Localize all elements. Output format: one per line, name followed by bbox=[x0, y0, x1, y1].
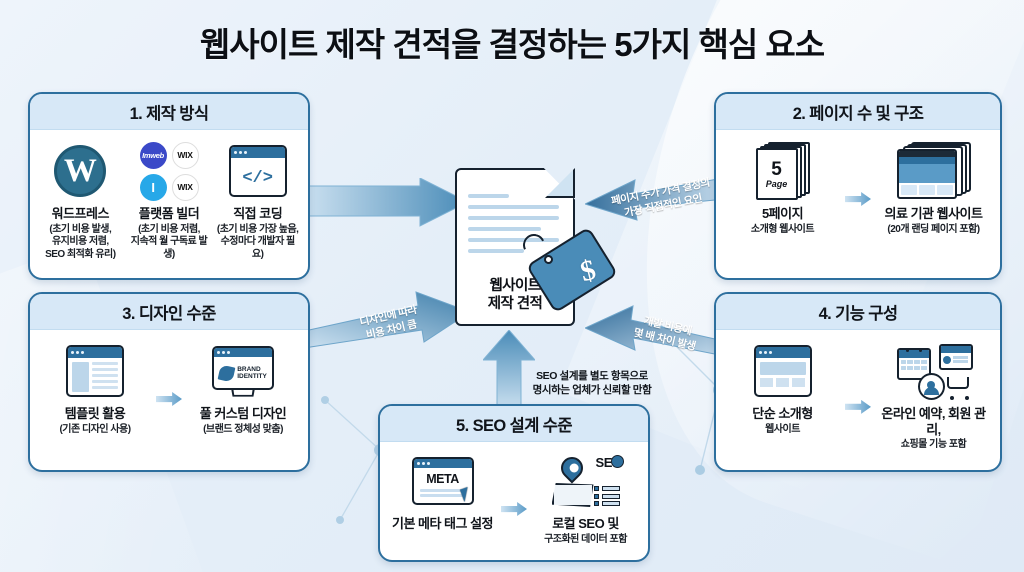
item-simple-site-title: 단순 소개형 bbox=[724, 406, 841, 422]
card-page-count-structure[interactable]: 2. 페이지 수 및 구조 5 Page 5페이지 소개형 웹사이트 bbox=[714, 92, 1002, 280]
right-arrow-icon bbox=[845, 400, 871, 414]
template-browser-icon bbox=[38, 340, 152, 402]
card-feature-set[interactable]: 4. 기능 구성 bbox=[714, 292, 1002, 472]
map-icon bbox=[552, 483, 594, 507]
item-medical-title: 의료 기관 웹사이트 bbox=[875, 206, 992, 222]
item-features-sub: 쇼핑몰 기능 포함 bbox=[875, 439, 992, 452]
item-medical-sub: (20개 랜딩 페이지 포함) bbox=[875, 224, 992, 237]
builder-logo-icon: I bbox=[140, 174, 167, 201]
right-arrow-icon bbox=[501, 502, 527, 516]
item-simple-site[interactable]: 단순 소개형 웹사이트 bbox=[724, 340, 841, 436]
card-design-level[interactable]: 3. 디자인 수준 템플릿 활용 (기존 디자인 사용) bbox=[28, 292, 310, 472]
item-features-title: 온라인 예약, 회원 관리, bbox=[875, 406, 992, 437]
item-5page-title: 5페이지 bbox=[724, 206, 841, 222]
item-template-sub: (기존 디자인 사용) bbox=[38, 424, 152, 437]
item-template-title: 템플릿 활용 bbox=[38, 406, 152, 422]
item-custom-coding[interactable]: </> 직접 코딩 (초기 비용 가장 높음, 수정마다 개발자 필요) bbox=[215, 140, 300, 261]
item-platform-sub: (초기 비용 저렴, 지속적 월 구독료 발생) bbox=[127, 224, 212, 262]
price-tag-icon: $ bbox=[535, 242, 609, 298]
item-meta-title: 기본 메타 태그 설정 bbox=[388, 516, 497, 532]
meta-label: META bbox=[414, 472, 472, 486]
item-local-seo-sub: 구조화된 데이터 포함 bbox=[531, 534, 640, 547]
item-advanced-features[interactable]: 온라인 예약, 회원 관리, 쇼핑몰 기능 포함 bbox=[875, 340, 992, 452]
card3-heading: 3. 디자인 수준 bbox=[30, 294, 308, 330]
item-local-seo[interactable]: SEO 로컬 SEO 및 구조화된 데이터 포함 bbox=[531, 450, 640, 546]
brand-identity-monitor-icon: BRAND IDENTITY bbox=[186, 340, 300, 402]
card1-heading: 1. 제작 방식 bbox=[30, 94, 308, 130]
simple-website-browser-icon bbox=[724, 340, 841, 402]
page-unit: Page bbox=[766, 179, 788, 189]
card-seo-level[interactable]: 5. SEO 설계 수준 META 기본 메타 태그 설정 SEO bbox=[378, 404, 650, 562]
item-coding-title: 직접 코딩 bbox=[215, 206, 300, 222]
member-card-icon bbox=[939, 344, 973, 370]
code-glyph: </> bbox=[231, 158, 285, 197]
item-custom-design-sub: (브랜드 정체성 맞춤) bbox=[186, 424, 300, 437]
code-browser-icon: </> bbox=[215, 140, 300, 202]
brand-line-2: IDENTITY bbox=[237, 373, 267, 380]
item-wordpress-title: 워드프레스 bbox=[38, 206, 123, 222]
item-simple-site-sub: 웹사이트 bbox=[724, 424, 841, 437]
item-coding-sub: (초기 비용 가장 높음, 수정마다 개발자 필요) bbox=[215, 224, 300, 262]
card4-heading: 4. 기능 구성 bbox=[716, 294, 1000, 330]
structured-data-list-icon bbox=[594, 486, 620, 506]
item-wordpress-sub: (초기 비용 발생, 유지비용 저렴, SEO 최적화 유리) bbox=[38, 224, 123, 262]
card2-heading: 2. 페이지 수 및 구조 bbox=[716, 94, 1000, 130]
page-number: 5 bbox=[771, 160, 782, 179]
item-wordpress[interactable]: W 워드프레스 (초기 비용 발생, 유지비용 저렴, SEO 최적화 유리) bbox=[38, 140, 123, 261]
monitor-stand bbox=[231, 389, 254, 396]
item-medical-site[interactable]: 의료 기관 웹사이트 (20개 랜딩 페이지 포함) bbox=[875, 140, 992, 236]
card-production-method[interactable]: 1. 제작 방식 W 워드프레스 (초기 비용 발생, 유지비용 저렴, SEO… bbox=[28, 92, 310, 280]
item-template-design[interactable]: 템플릿 활용 (기존 디자인 사용) bbox=[38, 340, 152, 436]
platform-builder-logos-icon: Imweb WIX I WIX bbox=[127, 140, 212, 202]
item-five-page-site[interactable]: 5 Page 5페이지 소개형 웹사이트 bbox=[724, 140, 841, 236]
connector-label-card5: SEO 설계를 별도 항목으로 명시하는 업체가 신뢰할 만함 bbox=[492, 370, 692, 397]
local-seo-map-icon: SEO bbox=[531, 450, 640, 512]
center-quote-document: 웹사이트 제작 견적 $ bbox=[455, 168, 575, 326]
stacked-pages-icon: 5 Page bbox=[724, 140, 841, 202]
wix-logo-icon-2: WIX bbox=[172, 174, 199, 201]
item-platform-builder[interactable]: Imweb WIX I WIX 플랫폼 빌더 (초기 비용 저렴, 지속적 월 … bbox=[127, 140, 212, 261]
item-custom-design[interactable]: BRAND IDENTITY 풀 커스텀 디자인 (브랜드 정체성 맞춤) bbox=[186, 340, 300, 436]
brand-leaf-icon bbox=[218, 364, 236, 382]
card5-heading: 5. SEO 설계 수준 bbox=[380, 406, 648, 442]
user-avatar-icon bbox=[918, 373, 945, 400]
connector-arrow-card1 bbox=[300, 178, 468, 230]
item-custom-design-title: 풀 커스텀 디자인 bbox=[186, 406, 300, 422]
item-5page-sub: 소개형 웹사이트 bbox=[724, 224, 841, 237]
meta-tag-window-icon: META bbox=[388, 450, 497, 512]
wix-logo-icon: WIX bbox=[172, 142, 199, 169]
item-basic-meta[interactable]: META 기본 메타 태그 설정 bbox=[388, 450, 497, 532]
brand-line-1: BRAND bbox=[237, 366, 260, 373]
right-arrow-icon bbox=[156, 392, 182, 406]
item-local-seo-title: 로컬 SEO 및 bbox=[531, 516, 640, 532]
item-platform-title: 플랫폼 빌더 bbox=[127, 206, 212, 222]
imweb-logo-icon: Imweb bbox=[140, 142, 167, 169]
infographic-canvas: 웹사이트 제작 견적을 결정하는 5가지 핵심 요소 페이지 수가 가격 결정의… bbox=[0, 0, 1024, 572]
gear-icon bbox=[611, 455, 624, 468]
right-arrow-icon bbox=[845, 192, 871, 206]
page-title: 웹사이트 제작 견적을 결정하는 5가지 핵심 요소 bbox=[0, 18, 1024, 66]
booking-member-shop-icons bbox=[875, 340, 992, 402]
map-pin-icon bbox=[556, 452, 587, 483]
shopping-cart-icon bbox=[947, 377, 973, 399]
wordpress-logo-icon: W bbox=[38, 140, 123, 202]
medical-website-stack-icon bbox=[875, 140, 992, 202]
